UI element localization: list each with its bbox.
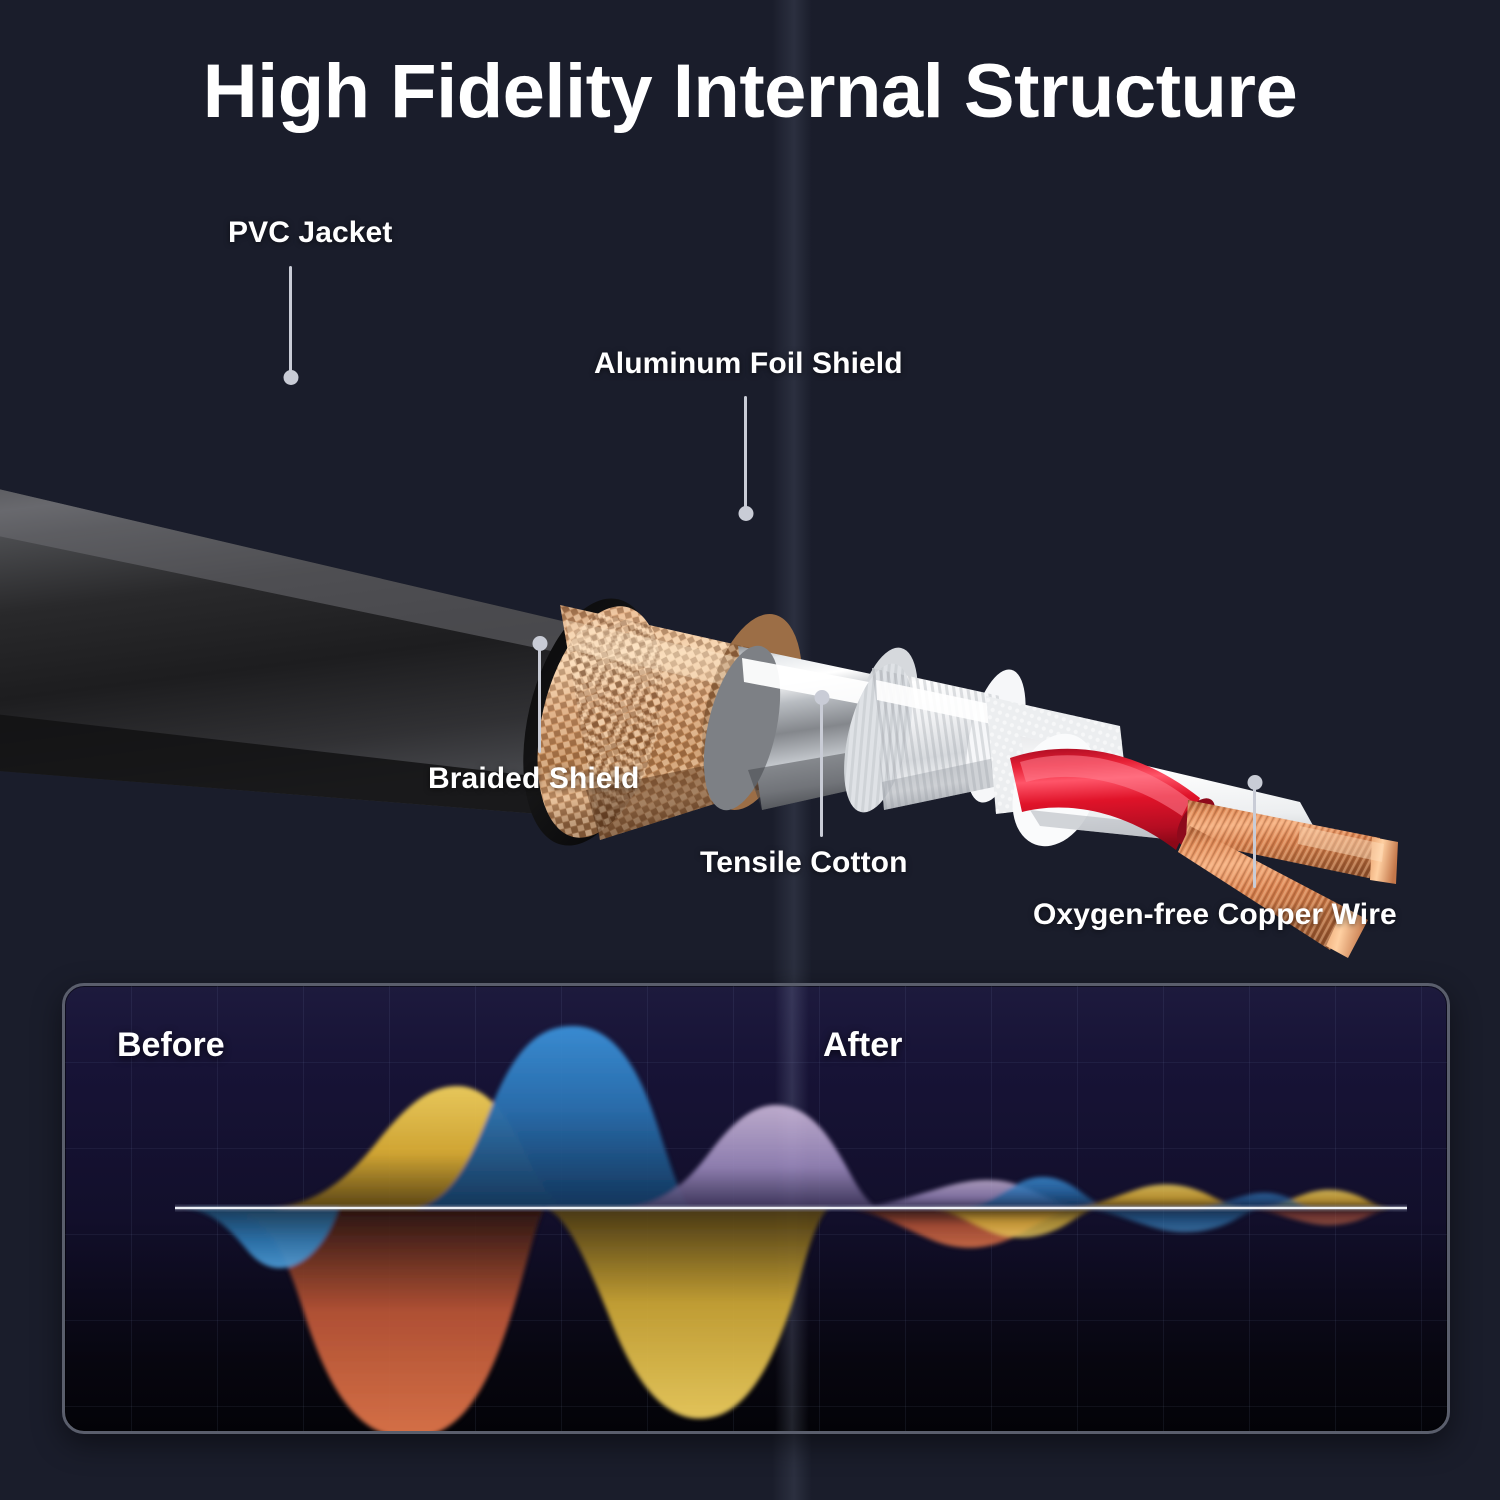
- infographic-canvas: High Fidelity Internal Structure: [0, 0, 1500, 1500]
- leader-line-tensile-cotton: [820, 697, 823, 837]
- callout-label-aluminum-foil-shield: Aluminum Foil Shield: [594, 347, 903, 381]
- leader-line-oxygen-free-copper-wire: [1253, 782, 1256, 888]
- callout-label-tensile-cotton: Tensile Cotton: [700, 846, 908, 880]
- leader-line-pvc-jacket: [289, 266, 292, 378]
- leader-line-braided-shield: [538, 643, 541, 753]
- wave-gold-before-lower: [545, 1208, 829, 1419]
- callout-label-braided-shield: Braided Shield: [428, 762, 639, 796]
- waveform-label-before: Before: [117, 1026, 225, 1065]
- leader-line-aluminum-foil-shield: [744, 396, 747, 514]
- callout-label-pvc-jacket: PVC Jacket: [228, 216, 392, 250]
- waveform-comparison-panel: Before After: [62, 983, 1450, 1434]
- copper-wire-strands: [1178, 800, 1398, 958]
- page-title: High Fidelity Internal Structure: [40, 52, 1460, 132]
- waveform-plot: [65, 986, 1447, 1431]
- waveform-label-after: After: [823, 1026, 902, 1065]
- wave-blue-after-lower: [1079, 1208, 1261, 1232]
- callout-label-oxygen-free-copper-wire: Oxygen-free Copper Wire: [1033, 898, 1397, 932]
